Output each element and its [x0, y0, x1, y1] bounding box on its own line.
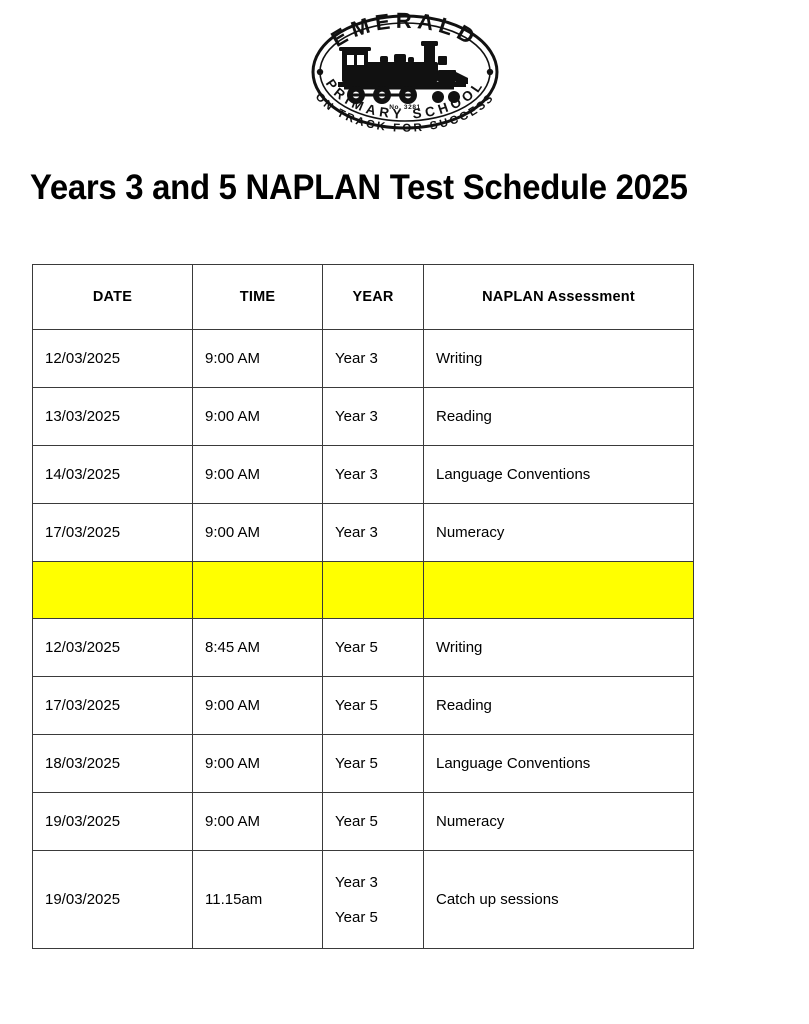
column-header-assessment: NAPLAN Assessment [424, 265, 694, 330]
column-header-date: DATE [33, 265, 193, 330]
cell-time: 9:00 AM [193, 388, 323, 446]
cell-time: 9:00 AM [193, 330, 323, 388]
cell-year: Year 3 [323, 504, 424, 562]
cell-year: Year 5 [323, 735, 424, 793]
cell-year: Year 3 [323, 330, 424, 388]
table-row: 18/03/20259:00 AMYear 5Language Conventi… [33, 735, 694, 793]
cell-time: 9:00 AM [193, 504, 323, 562]
naplan-schedule-table: DATE TIME YEAR NAPLAN Assessment 12/03/2… [32, 264, 694, 949]
cell-time: 9:00 AM [193, 793, 323, 851]
cell-assessment: Language Conventions [424, 735, 694, 793]
cell-assessment: Writing [424, 330, 694, 388]
table-row: 14/03/20259:00 AMYear 3Language Conventi… [33, 446, 694, 504]
table-row: 19/03/202511.15amYear 3Year 5Catch up se… [33, 851, 694, 949]
school-logo: EMERALD [0, 8, 809, 148]
cell-assessment: Reading [424, 677, 694, 735]
cell-date: 14/03/2025 [33, 446, 193, 504]
page-title: Years 3 and 5 NAPLAN Test Schedule 2025 [30, 167, 744, 209]
cell-date: 12/03/2025 [33, 619, 193, 677]
table-row: 19/03/20259:00 AMYear 5Numeracy [33, 793, 694, 851]
column-header-year: YEAR [323, 265, 424, 330]
cell-date: 18/03/2025 [33, 735, 193, 793]
column-header-time: TIME [193, 265, 323, 330]
cell-time: 8:45 AM [193, 619, 323, 677]
cell-assessment: Numeracy [424, 504, 694, 562]
emerald-primary-school-logo-graphic: EMERALD [298, 8, 512, 144]
cell-date: 19/03/2025 [33, 851, 193, 949]
cell-date: 17/03/2025 [33, 677, 193, 735]
table-row: 17/03/20259:00 AMYear 3Numeracy [33, 504, 694, 562]
cell-time: 9:00 AM [193, 446, 323, 504]
cell-date: 13/03/2025 [33, 388, 193, 446]
cell-date: 19/03/2025 [33, 793, 193, 851]
cell-assessment: Language Conventions [424, 446, 694, 504]
cell-time [193, 562, 323, 619]
table-spacer-row [33, 562, 694, 619]
cell-assessment [424, 562, 694, 619]
cell-year: Year 3 [323, 446, 424, 504]
table-row: 13/03/20259:00 AMYear 3Reading [33, 388, 694, 446]
cell-time: 9:00 AM [193, 677, 323, 735]
cell-date [33, 562, 193, 619]
table-row: 12/03/20258:45 AMYear 5Writing [33, 619, 694, 677]
cell-time: 11.15am [193, 851, 323, 949]
cell-date: 12/03/2025 [33, 330, 193, 388]
cell-date: 17/03/2025 [33, 504, 193, 562]
table-header-row: DATE TIME YEAR NAPLAN Assessment [33, 265, 694, 330]
cell-time: 9:00 AM [193, 735, 323, 793]
cell-assessment: Writing [424, 619, 694, 677]
cell-year-primary: Year 3 [335, 875, 423, 890]
table-row: 12/03/20259:00 AMYear 3Writing [33, 330, 694, 388]
cell-year-secondary: Year 5 [335, 910, 423, 925]
cell-assessment: Numeracy [424, 793, 694, 851]
table-body: 12/03/20259:00 AMYear 3Writing13/03/2025… [33, 330, 694, 949]
cell-assessment: Reading [424, 388, 694, 446]
table-row: 17/03/20259:00 AMYear 5Reading [33, 677, 694, 735]
cell-year: Year 5 [323, 677, 424, 735]
cell-year: Year 5 [323, 619, 424, 677]
cell-year [323, 562, 424, 619]
cell-assessment: Catch up sessions [424, 851, 694, 949]
cell-year: Year 3Year 5 [323, 851, 424, 949]
cell-year: Year 3 [323, 388, 424, 446]
cell-year: Year 5 [323, 793, 424, 851]
